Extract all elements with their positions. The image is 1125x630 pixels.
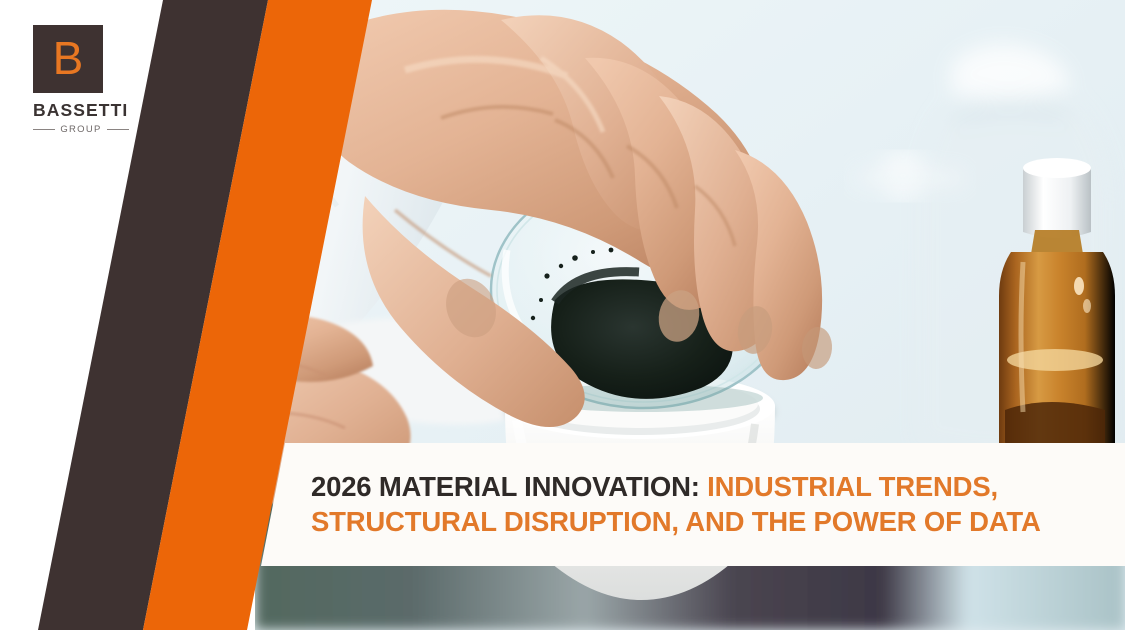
title-line-1-orange: INDUSTRIAL TRENDS, <box>700 471 998 502</box>
logo-rule-left <box>33 129 55 130</box>
bassetti-logo[interactable]: B BASSETTI GROUP <box>33 25 153 135</box>
logo-subwordmark: GROUP <box>60 124 101 135</box>
title-line-2: STRUCTURAL DISRUPTION, AND THE POWER OF … <box>311 505 1111 539</box>
logo-letter-b: B <box>53 35 84 81</box>
title-text-block: 2026 MATERIAL INNOVATION: INDUSTRIAL TRE… <box>311 443 1111 566</box>
logo-subwordmark-row: GROUP <box>33 124 129 135</box>
logo-mark-square: B <box>33 25 103 93</box>
banner-root: 2026 MATERIAL INNOVATION: INDUSTRIAL TRE… <box>0 0 1125 630</box>
logo-rule-right <box>107 129 129 130</box>
title-line-1: 2026 MATERIAL INNOVATION: INDUSTRIAL TRE… <box>311 470 1111 504</box>
logo-wordmark: BASSETTI <box>33 100 153 121</box>
title-line-1-dark: 2026 MATERIAL INNOVATION: <box>311 471 700 502</box>
